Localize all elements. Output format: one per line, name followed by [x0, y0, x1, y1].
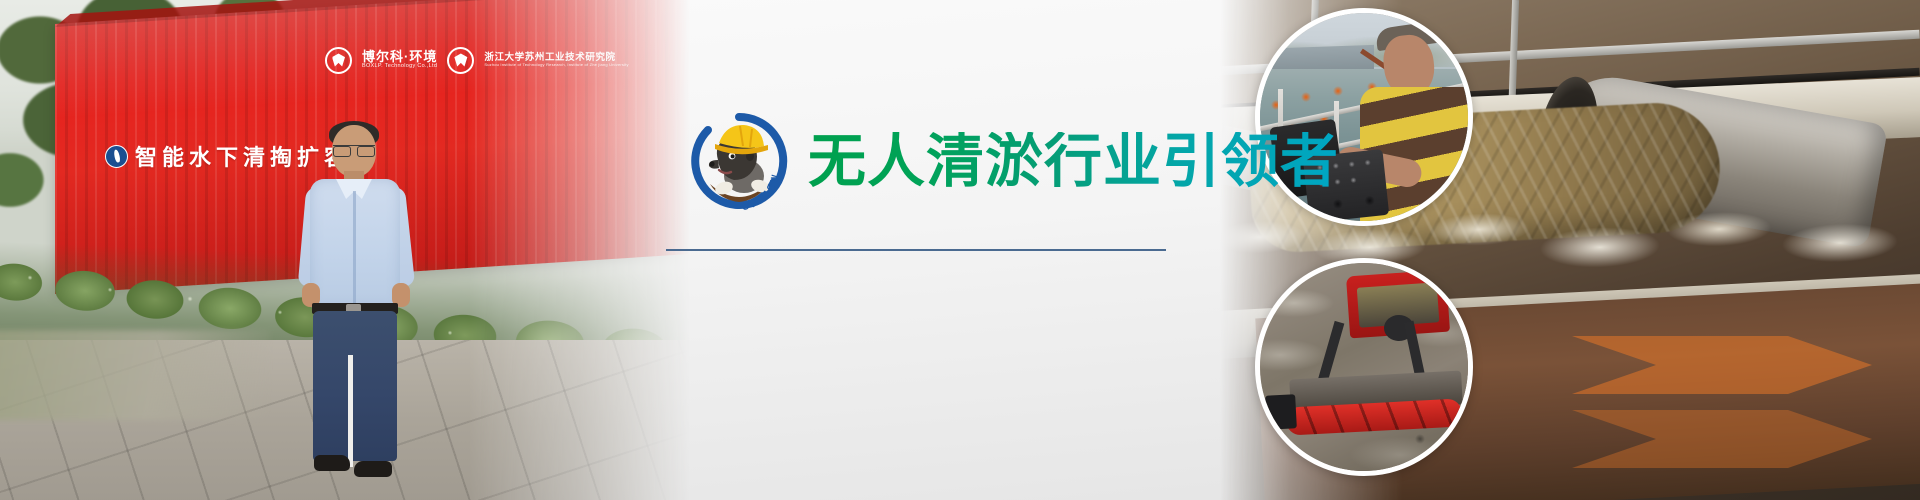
- person-figure: [300, 125, 410, 490]
- person-shirt-placket: [353, 191, 356, 303]
- person-right-shoe: [354, 461, 392, 477]
- container-brand-1-cn: 博尔科·环境: [362, 50, 437, 64]
- container-brand-2-en: Suzhou Institute of Technology Research,…: [484, 63, 628, 67]
- person-leg-gap: [348, 355, 353, 467]
- left-photo-container-and-person: 博尔科·环境 BOXLP. Technology Co.,Ltd 浙江大学苏州工…: [0, 0, 690, 500]
- mud-mole-logo-svg: MUD MOLE: [688, 110, 790, 212]
- person-glasses: [333, 145, 375, 154]
- person-left-shoe: [314, 455, 350, 471]
- container-logo-row: 博尔科·环境 BOXLP. Technology Co.,Ltd 浙江大学苏州工…: [325, 40, 625, 80]
- mud-mole-logo: MUD MOLE: [688, 110, 790, 212]
- hero-banner: 博尔科·环境 BOXLP. Technology Co.,Ltd 浙江大学苏州工…: [0, 0, 1920, 500]
- hero-slogan: 无人清淤行业引领者: [808, 132, 1339, 190]
- container-brand-2: 浙江大学苏州工业技术研究院 Suzhou Institute of Techno…: [484, 53, 628, 67]
- institute-mark-icon: [447, 47, 474, 74]
- container-slogan-badge-icon: [105, 145, 128, 168]
- hero-divider: [666, 249, 1166, 251]
- company-mark-icon: [325, 47, 352, 74]
- inset-photo-dredging-robot: [1255, 258, 1473, 476]
- container-brand-1-en: BOXLP. Technology Co.,Ltd: [362, 64, 437, 70]
- container-brand-1: 博尔科·环境 BOXLP. Technology Co.,Ltd: [362, 50, 437, 69]
- center-brand-stage: MUD MOLE 无人清淤行业引领者: [660, 0, 1280, 500]
- brand-row: MUD MOLE 无人清淤行业引领者: [688, 110, 1339, 212]
- grass-edge: [0, 330, 270, 420]
- person-pants: [313, 311, 397, 461]
